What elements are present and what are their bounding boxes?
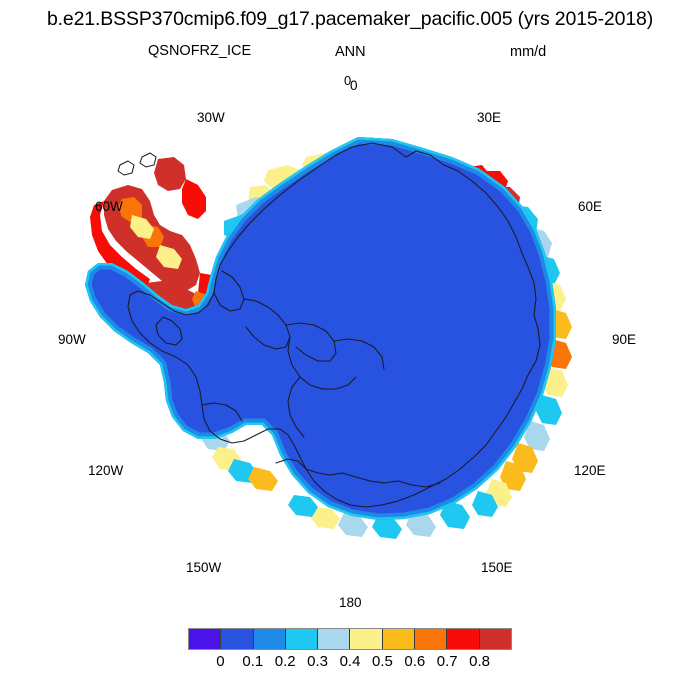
colorbar-cell-0[interactable] — [189, 629, 221, 649]
colorbar-cell-5[interactable] — [350, 629, 382, 649]
colorbar-tick-0.2: 0.2 — [275, 653, 296, 670]
antarctica-projection-svg — [0, 95, 700, 615]
colorbar-cell-3[interactable] — [286, 629, 318, 649]
season-label: ANN — [335, 44, 366, 60]
colorbar-cell-6[interactable] — [383, 629, 415, 649]
lon-label-150w: 150W — [186, 560, 221, 575]
colorbar-cell-9[interactable] — [480, 629, 511, 649]
lon-label-0: 0 — [350, 78, 358, 93]
units-label: mm/d — [510, 44, 546, 60]
variable-name-label: QSNOFRZ_ICE — [148, 43, 251, 59]
colorbar-tick-0.5: 0.5 — [372, 653, 393, 670]
lon-label-60e: 60E — [578, 199, 602, 214]
colorbar-tick-0.1: 0.1 — [242, 653, 263, 670]
colorbar-tick-0.6: 0.6 — [404, 653, 425, 670]
page-title: b.e21.BSSP370cmip6.f09_g17.pacemaker_pac… — [0, 8, 700, 31]
lon-label-30e: 30E — [477, 110, 501, 125]
colorbar-cell-1[interactable] — [221, 629, 253, 649]
colorbar-cell-4[interactable] — [318, 629, 350, 649]
colorbar-tick-0.7: 0.7 — [437, 653, 458, 670]
antarctic-map: 030W30E60W60E90W90E120W120E150W150E180 — [0, 95, 700, 615]
lon-label-150e: 150E — [481, 560, 513, 575]
ncl-plot-canvas: b.e21.BSSP370cmip6.f09_g17.pacemaker_pac… — [0, 0, 700, 700]
lon-label-90e: 90E — [612, 332, 636, 347]
colorbar-cell-8[interactable] — [447, 629, 479, 649]
lon-label-60w: 60W — [95, 199, 123, 214]
colorbar-tick-0.4: 0.4 — [340, 653, 361, 670]
colorbar-tick-0.8: 0.8 — [469, 653, 490, 670]
colorbar-cell-2[interactable] — [254, 629, 286, 649]
lon-label-30w: 30W — [197, 110, 225, 125]
colorbar-cell-7[interactable] — [415, 629, 447, 649]
colorbar-tick-labels: 00.10.20.30.40.50.60.70.8 — [188, 653, 512, 675]
colorbar-tick-0.3: 0.3 — [307, 653, 328, 670]
colorbar[interactable] — [188, 628, 512, 650]
lon-label-120w: 120W — [88, 463, 123, 478]
lon-label-90w: 90W — [58, 332, 86, 347]
lon-label-180: 180 — [339, 595, 362, 610]
colorbar-tick-0: 0 — [216, 653, 224, 670]
lon-label-120e: 120E — [574, 463, 606, 478]
